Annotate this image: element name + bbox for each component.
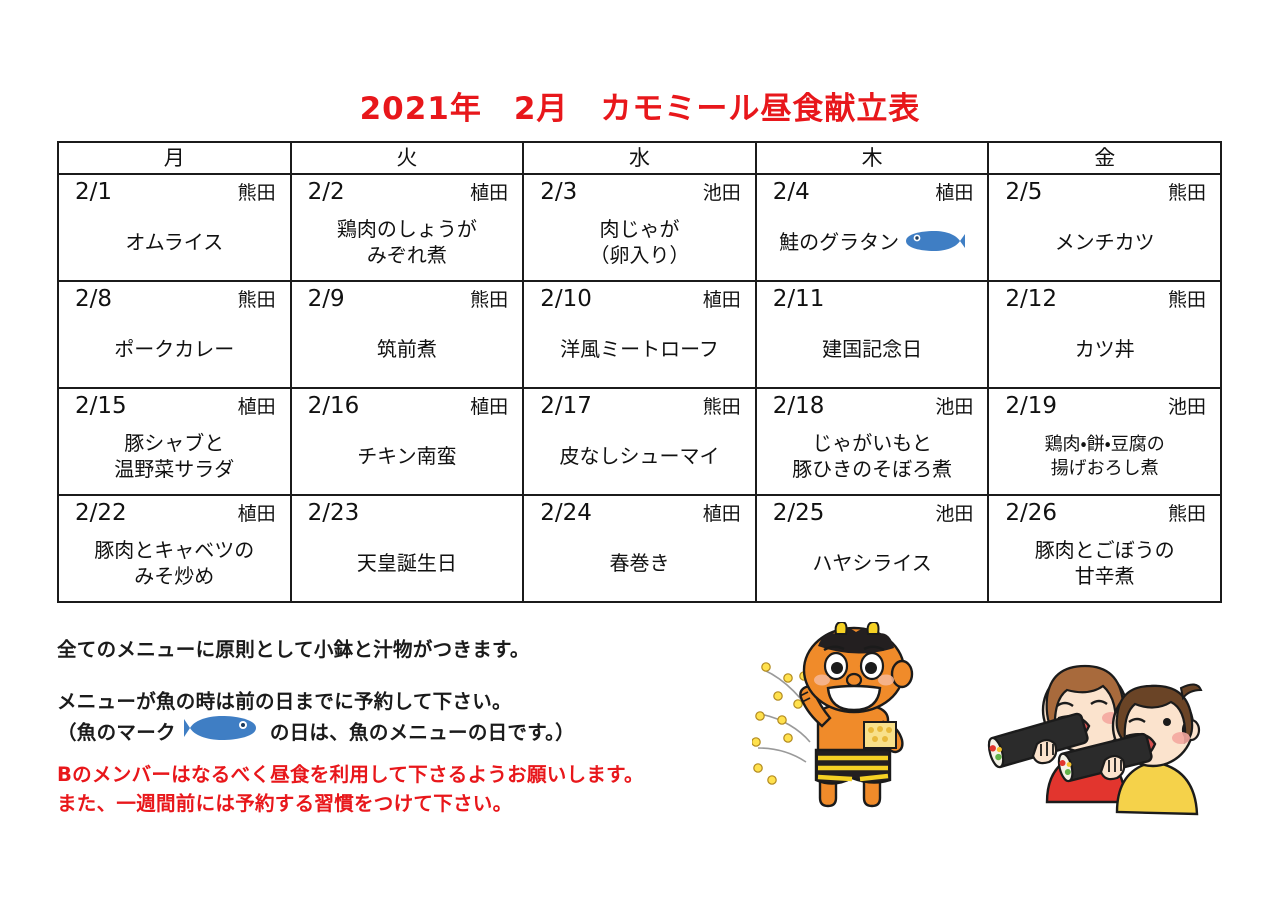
weekday-header-4: 金 (988, 142, 1221, 174)
weekday-header-2: 水 (523, 142, 756, 174)
calendar-week-row: 2/1熊田オムライス2/2植田鶏肉のしょうが みぞれ煮2/3池田肉じゃが （卵入… (58, 174, 1221, 281)
day-header: 2/16植田 (292, 389, 523, 421)
day-date: 2/10 (540, 285, 592, 313)
menu-day-cell[interactable]: 2/24植田春巻き (523, 495, 756, 602)
menu-text: 肉じゃが （卵入り） (589, 217, 689, 268)
day-staff-name: 熊田 (1168, 179, 1206, 207)
day-header: 2/5熊田 (989, 175, 1220, 207)
day-date: 2/23 (308, 499, 360, 527)
day-header: 2/19池田 (989, 389, 1220, 421)
day-header: 2/25池田 (757, 496, 988, 528)
day-menu-area: チキン南蛮 (292, 423, 523, 490)
day-date: 2/3 (540, 178, 577, 206)
menu-text: 洋風ミートローフ (560, 337, 719, 363)
day-date: 2/11 (773, 285, 825, 313)
menu-day-cell[interactable]: 2/9熊田筑前煮 (291, 281, 524, 388)
note-fish-mark-legend: （魚のマーク の日は、魚のメニューの日です。） (57, 715, 757, 746)
day-menu-area: オムライス (59, 209, 290, 276)
page-title: 2021年 2月 カモミール昼食献立表 (0, 83, 1280, 128)
menu-text: オムライス (125, 230, 223, 256)
day-staff-name: 熊田 (238, 286, 276, 314)
day-staff-name: 熊田 (1168, 500, 1206, 528)
calendar-week-row: 2/8熊田ポークカレー2/9熊田筑前煮2/10植田洋風ミートローフ2/11建国記… (58, 281, 1221, 388)
day-date: 2/22 (75, 499, 127, 527)
day-header: 2/12熊田 (989, 282, 1220, 314)
day-date: 2/8 (75, 285, 112, 313)
menu-poster-page: 2021年 2月 カモミール昼食献立表 月火水木金 2/1熊田オムライス2/2植… (0, 0, 1280, 905)
day-menu-area: 筑前煮 (292, 316, 523, 383)
day-staff-name: 植田 (935, 179, 973, 207)
calendar-week-row: 2/22植田豚肉とキャベツの みそ炒め2/23天皇誕生日2/24植田春巻き2/2… (58, 495, 1221, 602)
day-header: 2/26熊田 (989, 496, 1220, 528)
menu-text: 鶏肉・餅・豆腐の 揚げおろし煮 (1045, 433, 1165, 479)
note-fish-reservation: メニューが魚の時は前の日までに予約して下さい。 (57, 688, 757, 716)
day-staff-name: 池田 (1168, 393, 1206, 421)
menu-day-cell[interactable]: 2/26熊田豚肉とごぼうの 甘辛煮 (988, 495, 1221, 602)
menu-text: メンチカツ (1055, 230, 1155, 256)
menu-text: 筑前煮 (377, 337, 437, 363)
calendar-body: 2/1熊田オムライス2/2植田鶏肉のしょうが みぞれ煮2/3池田肉じゃが （卵入… (58, 174, 1221, 602)
day-menu-area: 豚シャブと 温野菜サラダ (59, 423, 290, 490)
menu-day-cell[interactable]: 2/8熊田ポークカレー (58, 281, 291, 388)
day-menu-area: メンチカツ (989, 209, 1220, 276)
day-header: 2/18池田 (757, 389, 988, 421)
day-menu-area: 春巻き (524, 530, 755, 597)
day-staff-name: 植田 (470, 179, 508, 207)
menu-text: じゃがいもと 豚ひきのそぼろ煮 (792, 431, 952, 482)
menu-day-cell[interactable]: 2/15植田豚シャブと 温野菜サラダ (58, 388, 291, 495)
menu-day-cell[interactable]: 2/18池田じゃがいもと 豚ひきのそぼろ煮 (756, 388, 989, 495)
day-staff-name: 植田 (470, 393, 508, 421)
menu-day-cell[interactable]: 2/3池田肉じゃが （卵入り） (523, 174, 756, 281)
fish-icon (184, 715, 260, 746)
holiday-label: 建国記念日 (822, 337, 922, 363)
menu-text: チキン南蛮 (357, 444, 456, 470)
day-menu-area: じゃがいもと 豚ひきのそぼろ煮 (757, 423, 988, 490)
day-menu-area: 鶏肉のしょうが みぞれ煮 (292, 209, 523, 276)
day-staff-name: 池田 (935, 393, 973, 421)
day-menu-area: ポークカレー (59, 316, 290, 383)
weekday-header-row: 月火水木金 (58, 142, 1221, 174)
day-staff-name: 熊田 (470, 286, 508, 314)
day-header: 2/10植田 (524, 282, 755, 314)
day-date: 2/15 (75, 392, 127, 420)
menu-text: 皮なしシューマイ (559, 444, 719, 470)
day-date: 2/25 (773, 499, 825, 527)
day-menu-area: 天皇誕生日 (292, 530, 523, 597)
day-menu-area: ハヤシライス (757, 530, 988, 597)
note-fish-legend-after: の日は、魚のメニューの日です。） (270, 716, 575, 745)
calendar-week-row: 2/15植田豚シャブと 温野菜サラダ2/16植田チキン南蛮2/17熊田皮なしシュ… (58, 388, 1221, 495)
menu-day-cell[interactable]: 2/25池田ハヤシライス (756, 495, 989, 602)
day-staff-name: 植田 (238, 500, 276, 528)
menu-text: 豚肉とキャベツの みそ炒め (94, 538, 254, 589)
menu-day-cell[interactable]: 2/5熊田メンチカツ (988, 174, 1221, 281)
menu-day-cell[interactable]: 2/19池田鶏肉・餅・豆腐の 揚げおろし煮 (988, 388, 1221, 495)
day-header: 2/9熊田 (292, 282, 523, 314)
day-date: 2/9 (308, 285, 345, 313)
day-staff-name: 熊田 (238, 179, 276, 207)
weekday-header-1: 火 (291, 142, 524, 174)
day-staff-name: 植田 (703, 500, 741, 528)
menu-text: 鮭のグラタン (779, 230, 899, 256)
day-date: 2/4 (773, 178, 810, 206)
menu-text: カツ丼 (1075, 337, 1135, 363)
holiday-cell[interactable]: 2/11建国記念日 (756, 281, 989, 388)
menu-text: 豚シャブと 温野菜サラダ (114, 431, 234, 482)
day-menu-area: 洋風ミートローフ (524, 316, 755, 383)
day-menu-area: 鶏肉・餅・豆腐の 揚げおろし煮 (989, 423, 1220, 490)
day-header: 2/17熊田 (524, 389, 755, 421)
day-staff-name: 植田 (238, 393, 276, 421)
day-menu-area: 豚肉とごぼうの 甘辛煮 (989, 530, 1220, 597)
menu-text: ポークカレー (114, 337, 234, 363)
holiday-cell[interactable]: 2/23天皇誕生日 (291, 495, 524, 602)
day-menu-area: 建国記念日 (757, 316, 988, 383)
day-date: 2/5 (1005, 178, 1042, 206)
day-date: 2/2 (308, 178, 345, 206)
menu-calendar: 月火水木金 2/1熊田オムライス2/2植田鶏肉のしょうが みぞれ煮2/3池田肉じ… (57, 141, 1222, 603)
menu-day-cell[interactable]: 2/12熊田カツ丼 (988, 281, 1221, 388)
day-header: 2/4植田 (757, 175, 988, 207)
menu-day-cell[interactable]: 2/16植田チキン南蛮 (291, 388, 524, 495)
day-menu-area: 皮なしシューマイ (524, 423, 755, 490)
day-date: 2/26 (1005, 499, 1057, 527)
oni-illustration (752, 622, 967, 822)
day-staff-name: 池田 (703, 179, 741, 207)
note-side-dishes: 全てのメニューに原則として小鉢と汁物がつきます。 (57, 636, 757, 664)
day-header: 2/15植田 (59, 389, 290, 421)
day-staff-name: 植田 (703, 286, 741, 314)
menu-text: 豚肉とごぼうの 甘辛煮 (1035, 538, 1175, 589)
calendar-table: 月火水木金 2/1熊田オムライス2/2植田鶏肉のしょうが みぞれ煮2/3池田肉じ… (57, 141, 1222, 603)
day-date: 2/1 (75, 178, 112, 206)
menu-day-cell[interactable]: 2/10植田洋風ミートローフ (523, 281, 756, 388)
day-date: 2/17 (540, 392, 592, 420)
menu-day-cell[interactable]: 2/4植田鮭のグラタン (756, 174, 989, 281)
day-date: 2/12 (1005, 285, 1057, 313)
menu-text: ハヤシライス (812, 551, 931, 577)
day-staff-name: 熊田 (1168, 286, 1206, 314)
notes-section: 全てのメニューに原則として小鉢と汁物がつきます。 メニューが魚の時は前の日までに… (57, 636, 757, 746)
day-staff-name: 池田 (935, 500, 973, 528)
day-header: 2/11 (757, 282, 988, 314)
menu-day-cell[interactable]: 2/22植田豚肉とキャベツの みそ炒め (58, 495, 291, 602)
day-date: 2/19 (1005, 392, 1057, 420)
weekday-header-0: 月 (58, 142, 291, 174)
day-header: 2/23 (292, 496, 523, 528)
day-header: 2/1熊田 (59, 175, 290, 207)
note-b-members-red: Bのメンバーはなるべく昼食を利用して下さるようお願いします。 また、一週間前には… (57, 760, 644, 819)
day-header: 2/22植田 (59, 496, 290, 528)
menu-text: 鶏肉のしょうが みぞれ煮 (337, 217, 477, 268)
day-header: 2/24植田 (524, 496, 755, 528)
weekday-header-3: 木 (756, 142, 989, 174)
day-header: 2/2植田 (292, 175, 523, 207)
day-staff-name: 熊田 (703, 393, 741, 421)
fish-icon (903, 230, 965, 256)
day-header: 2/8熊田 (59, 282, 290, 314)
day-date: 2/24 (540, 499, 592, 527)
day-header: 2/3池田 (524, 175, 755, 207)
note-fish-legend-before: （魚のマーク (57, 716, 176, 745)
menu-day-cell[interactable]: 2/17熊田皮なしシューマイ (523, 388, 756, 495)
holiday-label: 天皇誕生日 (357, 551, 457, 577)
day-menu-area: 豚肉とキャベツの みそ炒め (59, 530, 290, 597)
menu-day-cell[interactable]: 2/2植田鶏肉のしょうが みぞれ煮 (291, 174, 524, 281)
ehomaki-illustration (985, 652, 1215, 824)
day-date: 2/16 (308, 392, 360, 420)
menu-text: 春巻き (609, 551, 669, 577)
day-menu-area: 肉じゃが （卵入り） (524, 209, 755, 276)
day-date: 2/18 (773, 392, 825, 420)
day-menu-area: 鮭のグラタン (757, 209, 988, 276)
day-menu-area: カツ丼 (989, 316, 1220, 383)
menu-day-cell[interactable]: 2/1熊田オムライス (58, 174, 291, 281)
